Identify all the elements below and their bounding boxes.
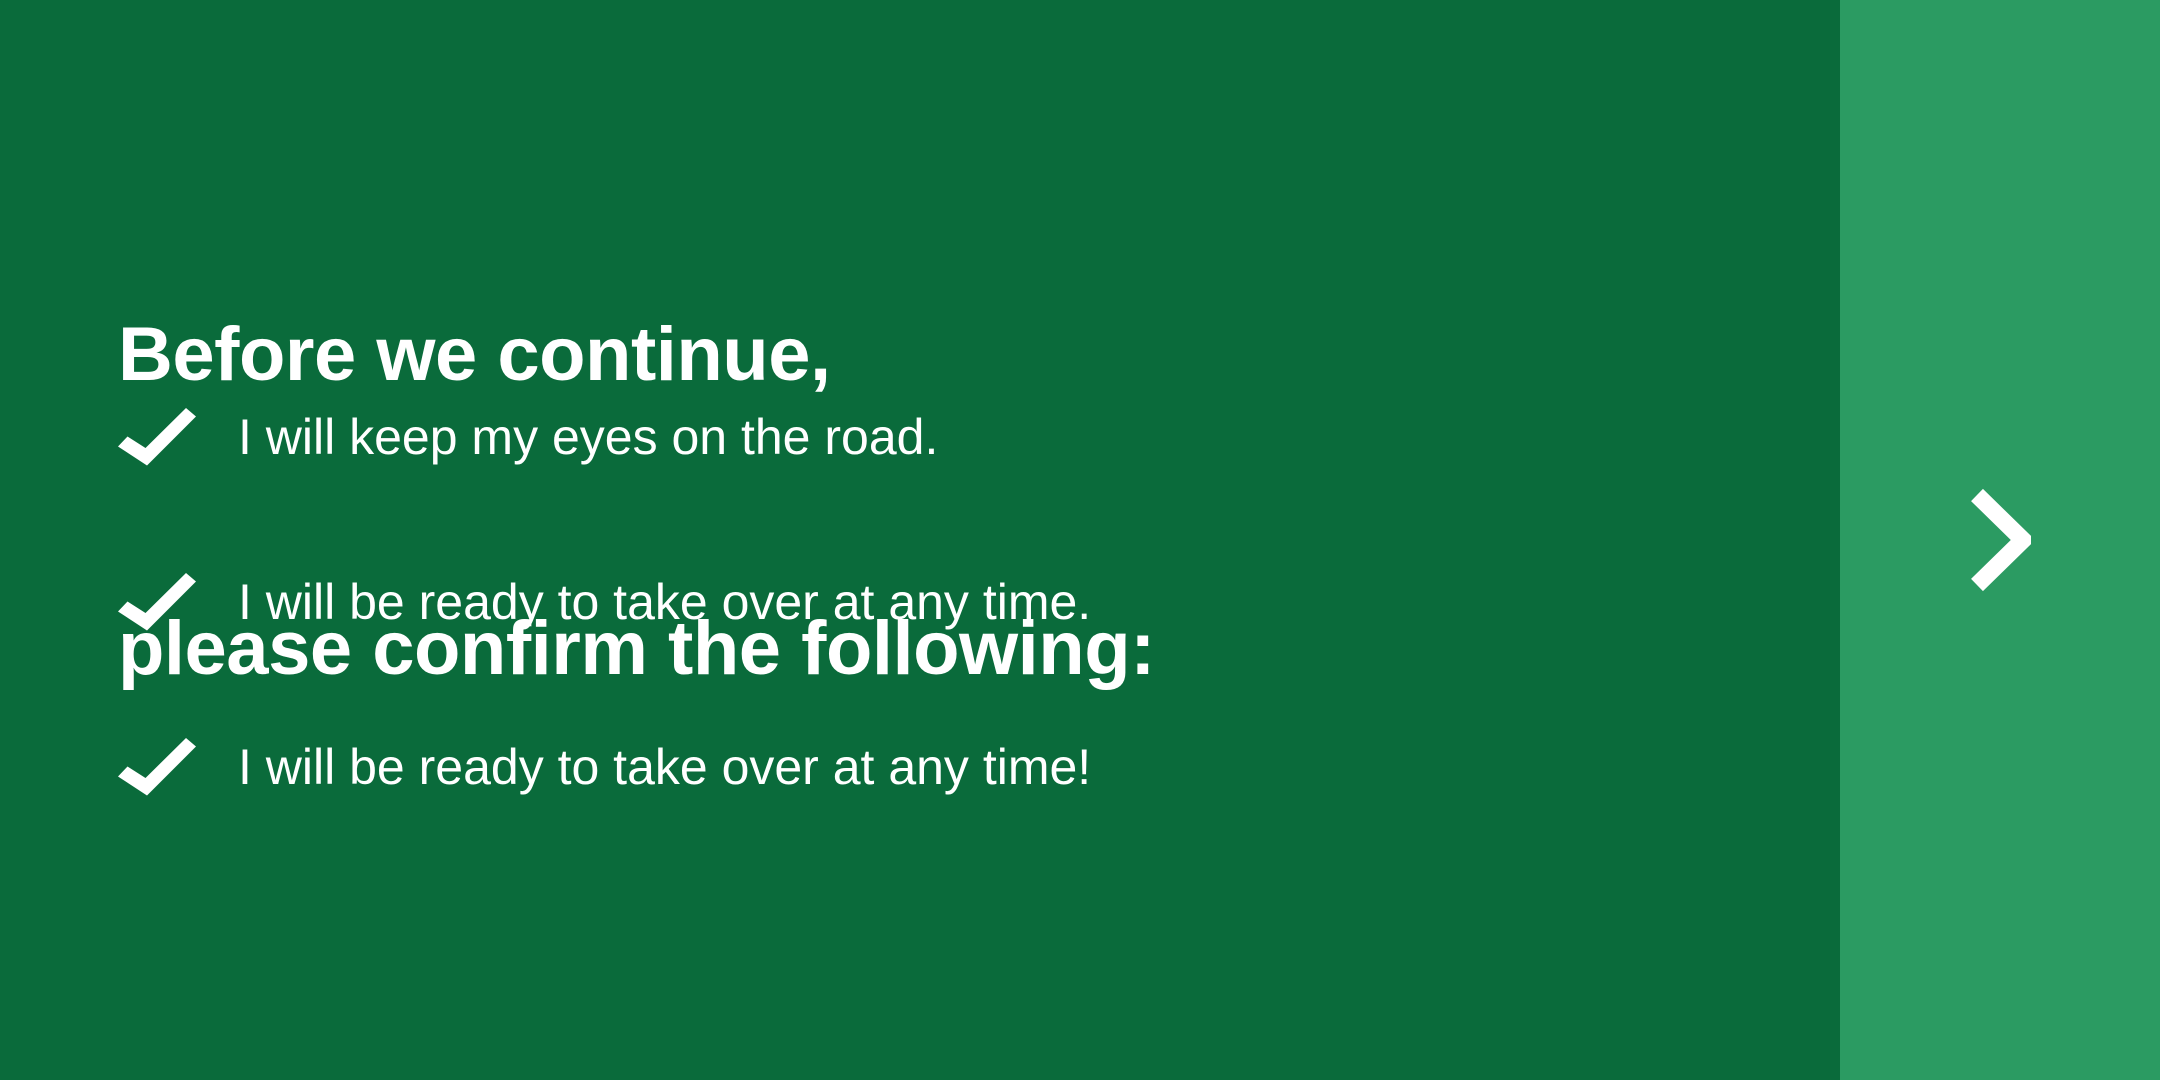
check-icon	[118, 392, 238, 482]
checklist-item-label: I will be ready to take over at any time…	[238, 572, 1091, 632]
checklist-item-label: I will keep my eyes on the road.	[238, 407, 938, 467]
confirmation-checklist: I will keep my eyes on the road. I will …	[118, 392, 1718, 812]
checklist-item-1[interactable]: I will keep my eyes on the road.	[118, 392, 1718, 482]
check-icon	[118, 722, 238, 812]
check-icon	[118, 557, 238, 647]
page-title-line-1: Before we continue,	[118, 306, 1155, 404]
confirmation-screen: Before we continue, please confirm the f…	[0, 0, 2160, 1080]
main-panel: Before we continue, please confirm the f…	[0, 0, 1840, 1080]
checklist-item-label: I will be ready to take over at any time…	[238, 737, 1091, 797]
checklist-item-2[interactable]: I will be ready to take over at any time…	[118, 557, 1718, 647]
checklist-item-3[interactable]: I will be ready to take over at any time…	[118, 722, 1718, 812]
next-button[interactable]	[1840, 0, 2160, 1080]
chevron-right-icon[interactable]	[1965, 483, 2035, 598]
